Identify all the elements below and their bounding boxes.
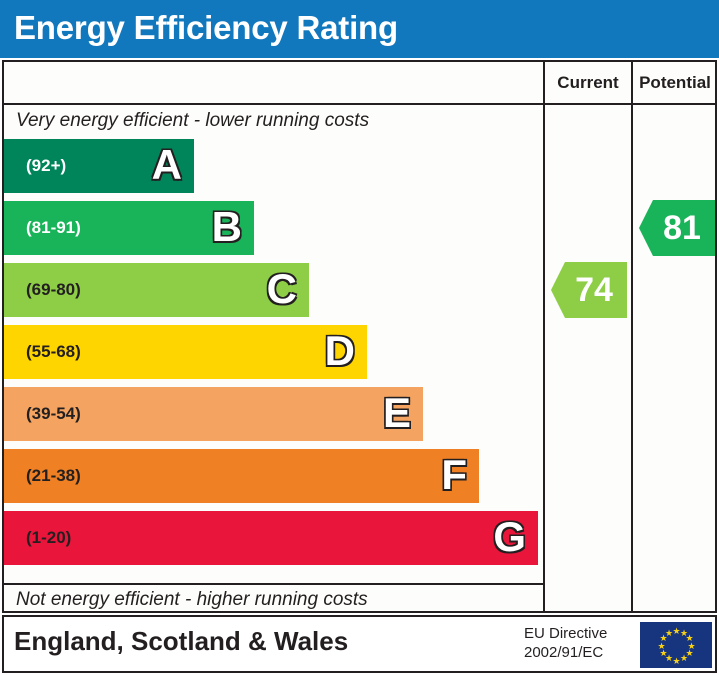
column-header-potential: Potential	[633, 62, 717, 103]
band-d: (55-68)D	[4, 325, 367, 379]
rating-value-current: 74	[565, 273, 613, 307]
band-e-range: (39-54)	[26, 404, 81, 424]
band-b-range: (81-91)	[26, 218, 81, 238]
header-rule	[2, 103, 717, 105]
column-divider-current	[543, 60, 545, 613]
epc-certificate: Energy Efficiency Rating Current Potenti…	[0, 0, 719, 675]
rating-arrow-current: 74	[551, 262, 627, 318]
eu-flag-icon	[639, 621, 713, 669]
band-c-range: (69-80)	[26, 280, 81, 300]
column-header-current: Current	[545, 62, 631, 103]
page-title: Energy Efficiency Rating	[14, 9, 398, 47]
title-bar: Energy Efficiency Rating	[0, 0, 719, 58]
caption-very-efficient: Very energy efficient - lower running co…	[16, 110, 369, 132]
directive-line-2: 2002/91/EC	[524, 644, 630, 663]
rating-arrow-potential: 81	[639, 200, 715, 256]
band-b-letter: B	[212, 206, 242, 248]
band-d-letter: D	[325, 330, 355, 372]
footer-region-label: England, Scotland & Wales	[14, 626, 348, 657]
directive-line-1: EU Directive	[524, 625, 630, 644]
band-f: (21-38)F	[4, 449, 479, 503]
band-e-letter: E	[383, 392, 411, 434]
band-d-range: (55-68)	[26, 342, 81, 362]
band-f-range: (21-38)	[26, 466, 81, 486]
band-e: (39-54)E	[4, 387, 423, 441]
caption-rule	[2, 583, 543, 585]
band-a: (92+)A	[4, 139, 194, 193]
band-f-letter: F	[441, 454, 467, 496]
band-g-range: (1-20)	[26, 528, 71, 548]
caption-not-efficient: Not energy efficient - higher running co…	[16, 589, 368, 611]
band-g: (1-20)G	[4, 511, 538, 565]
band-c: (69-80)C	[4, 263, 309, 317]
footer-directive: EU Directive 2002/91/EC	[524, 625, 630, 663]
band-b: (81-91)B	[4, 201, 254, 255]
column-divider-potential	[631, 60, 633, 613]
band-a-letter: A	[152, 144, 182, 186]
band-c-letter: C	[267, 268, 297, 310]
band-g-letter: G	[493, 516, 526, 558]
band-a-range: (92+)	[26, 156, 66, 176]
rating-value-potential: 81	[653, 211, 701, 245]
